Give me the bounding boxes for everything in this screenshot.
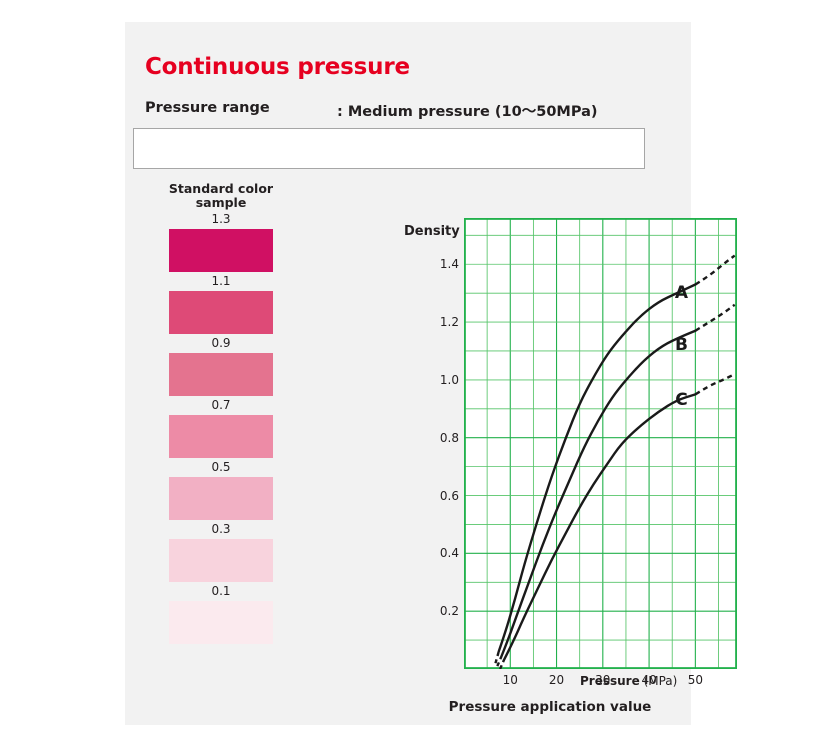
x-axis-title: Pressure application value [390, 699, 710, 715]
swatch-group: 0.7 [167, 396, 275, 458]
swatch-column-heading: Standard color sample [167, 182, 275, 210]
swatch-heading-line1: Standard color [167, 182, 275, 196]
swatch-chip [169, 539, 273, 582]
swatch-chip [169, 477, 273, 520]
pressure-range-row: Pressure range : Medium pressure (10〜50M… [145, 100, 665, 122]
swatch-chip [169, 415, 273, 458]
swatch-group: 0.9 [167, 334, 275, 396]
y-axis-tick-label: 0.6 [440, 489, 459, 503]
swatch-chip [169, 601, 273, 644]
swatch-chip [169, 353, 273, 396]
pressure-range-label: Pressure range [145, 100, 270, 116]
curve-label-b: B [675, 335, 688, 355]
curve-label-c: C [675, 390, 687, 410]
swatch-value: 1.3 [167, 210, 275, 229]
swatch-chip [169, 229, 273, 272]
y-axis-tick-label: 1.2 [440, 315, 459, 329]
swatch-group: 1.3 [167, 210, 275, 272]
plot-area: 0.20.40.60.81.01.21.41020304050 ABC [464, 218, 737, 669]
x-axis-tick-label: 10 [503, 673, 518, 687]
swatch-heading-line2: sample [167, 196, 275, 210]
swatch-value: 0.7 [167, 396, 275, 415]
swatch-value: 0.3 [167, 520, 275, 539]
note-input-box[interactable] [133, 128, 645, 169]
content-panel: Continuous pressure Pressure range : Med… [125, 22, 691, 725]
y-axis-tick-label: 1.0 [440, 373, 459, 387]
swatch-chip [169, 291, 273, 334]
swatch-group: 0.1 [167, 582, 275, 644]
swatch-value: 0.5 [167, 458, 275, 477]
swatch-value: 0.1 [167, 582, 275, 601]
swatch-group: 0.5 [167, 458, 275, 520]
y-axis-tick-label: 0.8 [440, 431, 459, 445]
y-axis-tick-label: 1.4 [440, 257, 459, 271]
curve-label-a: A [675, 283, 688, 303]
x-axis-tick-label: 20 [549, 673, 564, 687]
swatch-group: 1.1 [167, 272, 275, 334]
swatch-group: 0.3 [167, 520, 275, 582]
page-title: Continuous pressure [145, 54, 410, 80]
plot-svg [464, 218, 737, 669]
x-axis-tick-label: 50 [688, 673, 703, 687]
x-axis-unit-label: Pressure (MPa) [580, 674, 677, 688]
x-axis-unit-bold: Pressure [580, 674, 640, 688]
swatch-value: 1.1 [167, 272, 275, 291]
standard-color-sample-column: Standard color sample 1.31.10.90.70.50.3… [167, 182, 275, 644]
y-axis-tick-label: 0.4 [440, 546, 459, 560]
x-axis-unit-rest: (MPa) [640, 674, 678, 688]
y-axis-tick-label: 0.2 [440, 604, 459, 618]
pressure-range-value: : Medium pressure (10〜50MPa) [337, 100, 597, 121]
swatch-value: 0.9 [167, 334, 275, 353]
y-axis-title: Density [404, 224, 460, 239]
density-pressure-chart: Density 0.20.40.60.81.01.21.41020304050 … [330, 192, 690, 722]
